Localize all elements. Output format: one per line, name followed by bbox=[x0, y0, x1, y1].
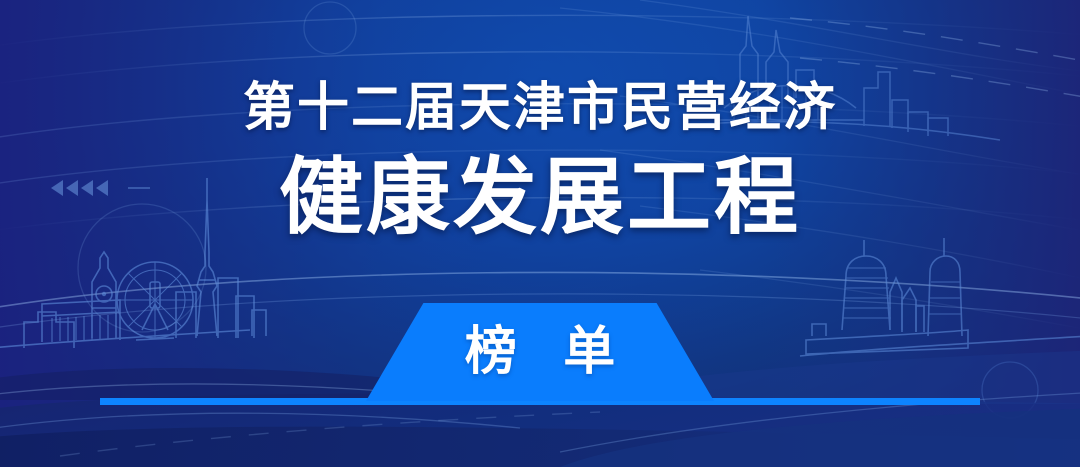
banner-title-line-2: 健康发展工程 bbox=[0, 150, 1080, 244]
event-banner: 第十二届天津市民营经济 健康发展工程 榜 单 bbox=[0, 0, 1080, 467]
title-block: 第十二届天津市民营经济 健康发展工程 bbox=[0, 78, 1080, 244]
badge-label: 榜 单 bbox=[449, 325, 631, 379]
badge-container: 榜 单 bbox=[0, 303, 1080, 401]
banner-title-line-1: 第十二届天津市民营经济 bbox=[0, 78, 1080, 138]
ranking-list-badge: 榜 单 bbox=[366, 303, 714, 401]
dashed-streaks-lower bbox=[60, 412, 600, 456]
